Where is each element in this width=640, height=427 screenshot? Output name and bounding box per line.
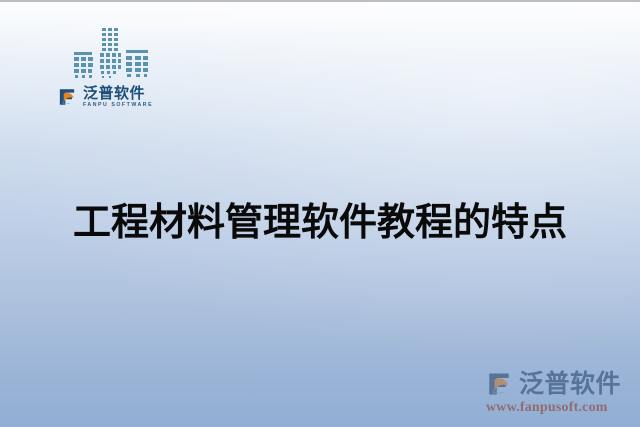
brand-name-en: FANPU SOFTWARE [83,103,153,108]
fanpu-swoosh-icon [484,369,514,399]
fanpu-swoosh-icon [56,86,78,108]
brand-logo: 泛普软件 FANPU SOFTWARE [56,83,166,111]
page-title: 工程材料管理软件教程的特点 [0,203,640,241]
watermark-url: www.fanpusoft.com [486,401,608,415]
brand-name-cn: 泛普软件 [83,86,153,101]
watermark-logo-row: 泛普软件 [484,369,621,399]
pixel-skyline-icon [64,24,160,82]
watermark-name-cn: 泛普软件 [519,372,621,397]
brand-text: 泛普软件 FANPU SOFTWARE [83,86,153,108]
presentation-slide: 泛普软件 FANPU SOFTWARE 工程材料管理软件教程的特点 泛普软件 w… [0,0,640,427]
watermark: 泛普软件 www.fanpusoft.com [484,361,626,415]
top-border-rule [0,0,640,2]
